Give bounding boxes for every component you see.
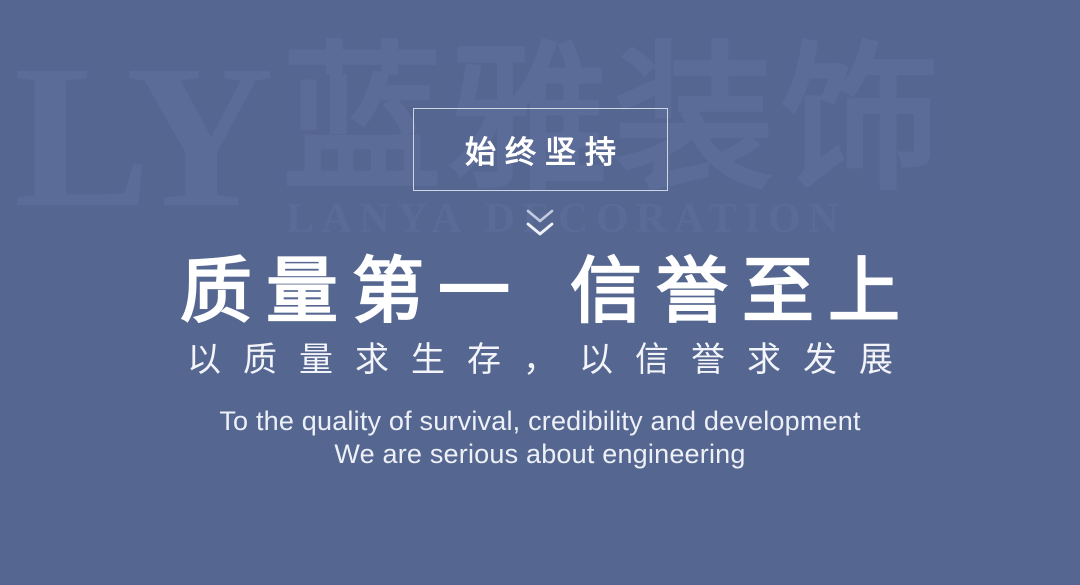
english-block: To the quality of survival, credibility … xyxy=(0,405,1080,471)
english-line-1: To the quality of survival, credibility … xyxy=(0,405,1080,438)
watermark-company-name-en: LANYA DECORATION xyxy=(286,198,846,240)
headline-left: 质量第一 xyxy=(180,249,524,333)
subtitle: 以质量求生存，以信誉求发展 xyxy=(0,337,1080,383)
tagline-text: 始终坚持 xyxy=(456,127,625,172)
tagline-box: 始终坚持 xyxy=(413,108,668,191)
headline: 质量第一信誉至上 xyxy=(0,248,1080,334)
english-line-2: We are serious about engineering xyxy=(0,438,1080,471)
chevron-double-down-icon xyxy=(524,207,556,241)
watermark-logo-monogram: LY xyxy=(14,34,268,239)
poster-canvas: LY 蓝雅装饰 LANYA DECORATION 始终坚持 质量第一信誉至上 以… xyxy=(0,0,1080,585)
headline-right: 信誉至上 xyxy=(570,249,914,333)
